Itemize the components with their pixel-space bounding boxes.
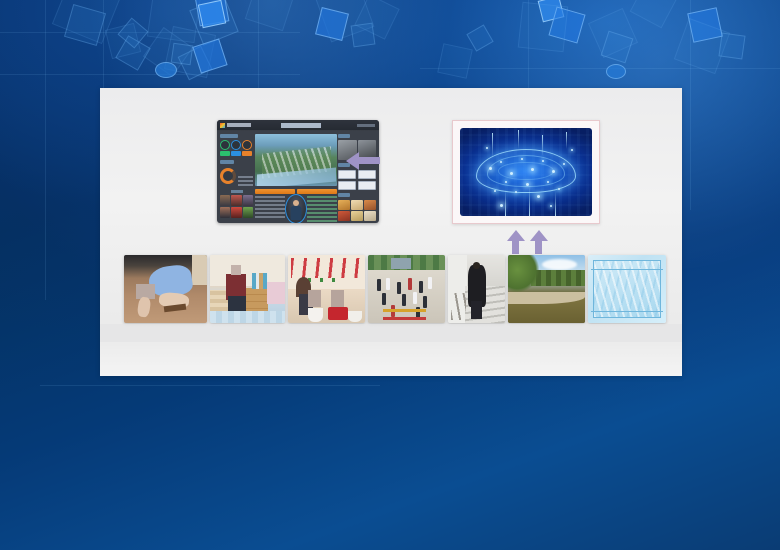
bg-square-4	[115, 35, 151, 71]
device-icon-grid[interactable]	[338, 170, 376, 190]
bg-gridline-v-2	[103, 0, 104, 96]
plaza-ground	[368, 270, 445, 323]
face-panel-label	[231, 190, 243, 193]
white-basin	[308, 308, 323, 322]
willow-tree	[508, 255, 539, 292]
donut-legend	[238, 176, 253, 188]
brain-node	[547, 181, 549, 183]
gauge-panel-label	[220, 134, 238, 138]
bg-dot-2	[606, 64, 626, 79]
person-head-blurred	[231, 265, 242, 276]
dashboard-nav[interactable]	[357, 124, 375, 127]
floor-object	[163, 304, 185, 313]
bg-square-20	[538, 0, 565, 22]
alarm-right-header	[297, 189, 337, 194]
gauge-ring-blue	[231, 140, 241, 150]
pedestrian	[419, 281, 423, 293]
pedestrian	[382, 293, 386, 305]
dashboard-header	[217, 120, 379, 131]
photo-activity-room[interactable]	[288, 255, 365, 323]
bg-square-13	[143, 27, 193, 77]
brain-node	[500, 204, 503, 207]
bg-gridline-h-3	[420, 68, 780, 69]
face-thumb[interactable]	[243, 207, 253, 218]
brain-node	[521, 158, 523, 160]
person-head	[473, 262, 480, 269]
photo-staircase-walking[interactable]	[448, 255, 505, 323]
device-icon[interactable]	[358, 181, 376, 190]
bg-dot-1	[155, 62, 177, 78]
photo-strip	[124, 255, 666, 323]
ai-brain-illustration[interactable]	[460, 128, 592, 216]
dashboard-right-column	[338, 134, 376, 220]
pedestrian	[397, 282, 401, 294]
bg-square-27	[718, 32, 745, 59]
pedestrian	[408, 278, 412, 290]
brain-data-beam	[505, 190, 506, 216]
bg-square-2	[64, 4, 106, 46]
device-icon[interactable]	[338, 181, 356, 190]
meal-thumb[interactable]	[338, 200, 350, 210]
person-legs	[471, 301, 481, 319]
dashboard-body	[217, 131, 379, 223]
photo-riverside-park[interactable]	[508, 255, 585, 323]
slide-canvas	[0, 0, 780, 550]
meal-thumb[interactable]	[351, 211, 363, 221]
dashboard-left-column	[220, 134, 253, 220]
bg-square-1	[52, 0, 122, 44]
arrow-head	[346, 152, 359, 170]
face-thumb[interactable]	[231, 195, 241, 206]
bg-square-10	[245, 0, 295, 31]
pedestrian	[413, 292, 417, 304]
bg-square-21	[548, 6, 585, 43]
gauge-panel	[220, 140, 253, 156]
arrow-shaft	[358, 157, 380, 164]
gauge-item[interactable]	[242, 140, 252, 156]
green-garland	[308, 278, 343, 282]
gauge-chip-blue	[231, 151, 241, 156]
bg-square-19	[354, 0, 399, 40]
photo-bedroom-monitoring[interactable]	[210, 255, 285, 323]
tree-line	[531, 270, 585, 286]
bg-square-14	[171, 43, 194, 66]
bg-square-6	[118, 18, 149, 49]
face-thumb[interactable]	[231, 207, 241, 218]
face-thumb[interactable]	[243, 195, 253, 206]
gauge-chip-orange	[242, 151, 252, 156]
pedestrian	[423, 296, 427, 308]
meal-thumbnail-grid[interactable]	[338, 200, 376, 221]
dashboard-logo-icon	[220, 123, 225, 128]
gauge-ring-green	[220, 140, 230, 150]
pedestrian	[377, 279, 381, 291]
texture-line-top	[591, 269, 663, 270]
bg-square-24	[601, 31, 634, 64]
handrail	[451, 293, 466, 320]
brain-node	[542, 160, 544, 162]
brain-data-beam	[555, 191, 556, 216]
pink-bedding	[267, 282, 285, 304]
brain-node	[537, 195, 540, 198]
gauge-item[interactable]	[220, 140, 230, 156]
arrow-head	[530, 230, 548, 241]
brain-data-beam	[542, 135, 543, 156]
bg-gridline-h-4	[40, 385, 380, 386]
face-thumbnail-grid[interactable]	[220, 195, 253, 218]
brain-node	[486, 147, 488, 149]
bg-square-16	[316, 0, 375, 42]
bed-edge	[192, 255, 207, 285]
arrow-head	[507, 230, 525, 241]
bg-square-3	[105, 23, 141, 59]
dashboard-title	[281, 123, 321, 128]
texture-line-bottom	[591, 311, 663, 312]
bg-square-15	[192, 38, 227, 73]
meal-thumb[interactable]	[351, 200, 363, 210]
brain-data-beam	[566, 132, 567, 150]
bg-gridline-h-1	[0, 32, 300, 33]
meal-thumb[interactable]	[364, 200, 376, 210]
pedestrian	[428, 277, 432, 289]
red-decorations	[291, 258, 362, 278]
tiled-floor	[210, 311, 285, 323]
bg-square-22	[518, 2, 569, 53]
bg-square-18	[351, 23, 376, 48]
bg-square-23	[588, 8, 638, 58]
brain-data-beam	[492, 133, 493, 158]
device-icon[interactable]	[338, 170, 356, 179]
cloud	[542, 259, 577, 270]
bg-square-8	[164, 26, 216, 78]
arrow-shaft	[512, 240, 519, 254]
photo-outdoor-plaza[interactable]	[368, 255, 445, 323]
face-panel	[220, 190, 253, 218]
building	[391, 258, 411, 269]
brain-data-beam	[529, 186, 530, 216]
yellow-barrier	[383, 309, 426, 312]
bg-square-26	[674, 18, 730, 74]
bg-square-29	[466, 24, 493, 51]
bg-square-9	[195, 0, 230, 26]
pedestrian	[402, 294, 406, 306]
bg-square-12	[198, 0, 226, 28]
meal-panel-label	[338, 193, 350, 197]
gauge-ring-orange	[242, 140, 252, 150]
meal-thumb[interactable]	[338, 211, 350, 221]
white-basin	[348, 311, 362, 323]
person-arm	[137, 296, 151, 318]
alarm-right-list[interactable]	[307, 196, 337, 223]
campus-3d-map[interactable]	[255, 134, 337, 186]
bg-square-7	[189, 0, 238, 46]
bg-square-5	[147, 0, 201, 43]
gauge-item[interactable]	[231, 140, 241, 156]
camera-panel-label	[338, 134, 350, 138]
dashboard-logo-text	[227, 123, 251, 127]
brain-node	[489, 167, 492, 170]
brain-node	[505, 181, 507, 183]
person-head-blurred	[331, 290, 344, 306]
person-head-blurred	[308, 290, 321, 306]
content-panel	[100, 88, 682, 376]
red-barrier	[383, 317, 426, 320]
brain-data-beam	[518, 130, 519, 149]
dashboard-center-column	[255, 134, 337, 220]
bg-gridline-h-2	[0, 74, 300, 75]
gauge-chip-green	[220, 151, 230, 156]
alarm-left-header	[255, 189, 295, 194]
bg-gridline-v-1	[45, 0, 46, 300]
bg-square-25	[687, 7, 723, 43]
face-thumb[interactable]	[220, 207, 230, 218]
brain-node	[550, 205, 552, 207]
bg-square-17	[315, 7, 349, 41]
brain-node	[571, 149, 573, 151]
brain-node	[558, 188, 560, 190]
photo-abstract-texture[interactable]	[588, 255, 666, 323]
bg-gridline-v-5	[690, 0, 691, 210]
occupancy-donut-chart	[220, 168, 236, 184]
bg-square-11	[178, 46, 213, 81]
photo-fall-detection[interactable]	[124, 255, 207, 323]
smart-elderly-care-monitoring-dashboard[interactable]	[217, 120, 379, 223]
pedestrian	[386, 278, 390, 290]
focus-resident-avatar[interactable]	[285, 194, 307, 223]
bg-square-28	[630, 0, 679, 28]
device-icon[interactable]	[358, 170, 376, 179]
red-container	[328, 307, 348, 321]
alarm-left-list[interactable]	[255, 196, 285, 220]
ai-brain-frame	[452, 120, 600, 224]
donut-panel-label	[220, 160, 234, 164]
meal-thumb[interactable]	[364, 211, 376, 221]
bg-square-30	[437, 43, 473, 79]
arrow-shaft	[535, 240, 542, 254]
face-thumb[interactable]	[220, 195, 230, 206]
